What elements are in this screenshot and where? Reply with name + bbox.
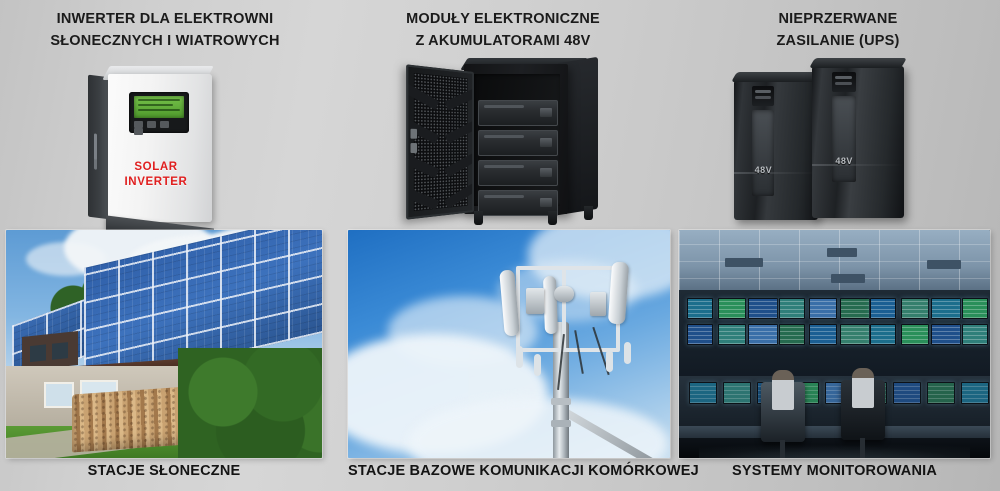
battery-module — [478, 130, 558, 156]
ceiling-vent — [827, 248, 857, 257]
console-monitor — [927, 382, 955, 404]
rack-caster — [474, 211, 483, 225]
door-chevron-icon — [408, 152, 472, 186]
inverter-side-panel — [88, 75, 110, 220]
wall-monitor — [748, 298, 778, 319]
wall-monitor — [718, 324, 746, 345]
inverter-front-face: SOLAR INVERTER — [108, 74, 212, 222]
battery-module — [478, 160, 558, 186]
console-monitor — [689, 382, 717, 404]
mast-joint — [551, 398, 571, 405]
house-window — [44, 382, 74, 408]
hedge — [178, 348, 322, 458]
battery-module — [478, 100, 558, 126]
heading-ups-line2: ZASILANIE (UPS) — [676, 30, 1000, 52]
ceiling-vent — [927, 260, 961, 269]
heading-inverter-line2: SŁONECZNYCH I WIATROWYCH — [0, 30, 330, 52]
console-monitor — [961, 382, 989, 404]
wall-monitor — [779, 324, 805, 345]
wall-monitor — [840, 324, 870, 345]
rack-caster — [548, 211, 557, 225]
ups-top-panel — [731, 72, 821, 82]
ups-unit-left: 48V — [734, 80, 818, 220]
inverter-label-line1: SOLAR — [134, 161, 177, 173]
wall-monitor — [931, 298, 961, 319]
inverter-label-line2: INVERTER — [125, 176, 188, 188]
wall-monitor — [687, 324, 713, 345]
caption-base-stations: STACJE BAZOWE KOMUNIKACJI KOMÓRKOWEJ — [348, 463, 670, 479]
wall-monitor — [901, 298, 929, 319]
wall-monitor — [809, 324, 837, 345]
ups-voltage-label: 48V — [752, 165, 774, 175]
floor — [679, 438, 990, 458]
ups-voltage-label: 48V — [832, 156, 856, 166]
rack-interior — [472, 74, 560, 206]
rack-caster — [584, 206, 593, 220]
solar-power-station-photo — [6, 230, 322, 458]
heading-ups-line1: NIEPRZERWANE — [676, 8, 1000, 30]
solar-inverter-product-image: SOLAR INVERTER — [88, 62, 228, 227]
wall-monitor — [809, 298, 837, 319]
ups-unit-right: 48V — [812, 66, 904, 218]
antenna-stub — [624, 342, 631, 364]
ups-top-panel — [809, 58, 907, 68]
heading-ups: NIEPRZERWANE ZASILANIE (UPS) — [676, 8, 1000, 52]
monitoring-control-room-photo — [679, 230, 990, 458]
console-monitor — [723, 382, 751, 404]
heading-inverter: INWERTER DLA ELEKTROWNI SŁONECZNYCH I WI… — [0, 8, 330, 52]
roof-dormer — [22, 331, 78, 371]
wall-monitor — [687, 298, 713, 319]
antenna-stub — [516, 346, 523, 368]
operator-person — [852, 368, 874, 408]
heading-inverter-line1: INWERTER DLA ELEKTROWNI — [0, 8, 330, 30]
battery-module — [478, 190, 558, 216]
ups-control-panel — [752, 86, 774, 106]
wall-monitor — [962, 324, 988, 345]
ups-seam-line — [734, 172, 818, 174]
wall-monitor — [962, 298, 988, 319]
cellular-base-station-photo — [348, 230, 670, 458]
door-chevron-icon — [408, 118, 472, 151]
door-chevron-icon — [408, 82, 472, 118]
rack-mesh-door — [406, 64, 474, 219]
heading-battery-modules: MODUŁY ELEKTRONICZNE Z AKUMULATORAMI 48V — [338, 8, 668, 52]
wall-monitor — [870, 298, 896, 319]
door-chevron-icon — [408, 182, 472, 219]
wall-monitor — [718, 298, 746, 319]
panel-antenna — [543, 276, 558, 334]
inverter-brand-label: SOLAR INVERTER — [108, 160, 204, 190]
antenna-stub — [606, 350, 613, 372]
caption-monitoring-systems: SYSTEMY MONITOROWANIA — [679, 463, 990, 479]
door-hinge-icon — [411, 129, 418, 139]
ceiling-vent — [725, 258, 763, 267]
console-monitor — [893, 382, 921, 404]
wall-monitor — [870, 324, 896, 345]
ceiling — [679, 230, 990, 296]
operator-person — [772, 370, 794, 410]
ceiling-vent — [831, 274, 865, 283]
heading-battery-line1: MODUŁY ELEKTRONICZNE — [338, 8, 668, 30]
ups-front-vent — [752, 110, 774, 196]
ups-product-image: 48V 48V — [716, 58, 916, 230]
caption-solar-stations: STACJE SŁONECZNE — [6, 463, 322, 479]
wall-monitor — [901, 324, 929, 345]
wall-monitor — [931, 324, 961, 345]
inverter-button-row — [134, 121, 184, 129]
radio-unit — [590, 292, 606, 316]
wall-monitor — [840, 298, 870, 319]
radio-unit — [554, 286, 574, 302]
lcd-screen-icon — [134, 96, 184, 118]
antenna-stub — [534, 354, 541, 376]
wall-monitor — [779, 298, 805, 319]
radio-unit — [526, 288, 544, 314]
ups-control-panel — [832, 72, 856, 92]
heading-battery-line2: Z AKUMULATORAMI 48V — [338, 30, 668, 52]
wall-monitor — [748, 324, 778, 345]
battery-rack-product-image — [398, 58, 603, 230]
ups-seam-line — [812, 164, 904, 166]
ups-front-vent — [832, 96, 856, 182]
inverter-display-bezel — [129, 92, 189, 133]
product-overview-board: INWERTER DLA ELEKTROWNI SŁONECZNYCH I WI… — [0, 0, 1000, 491]
